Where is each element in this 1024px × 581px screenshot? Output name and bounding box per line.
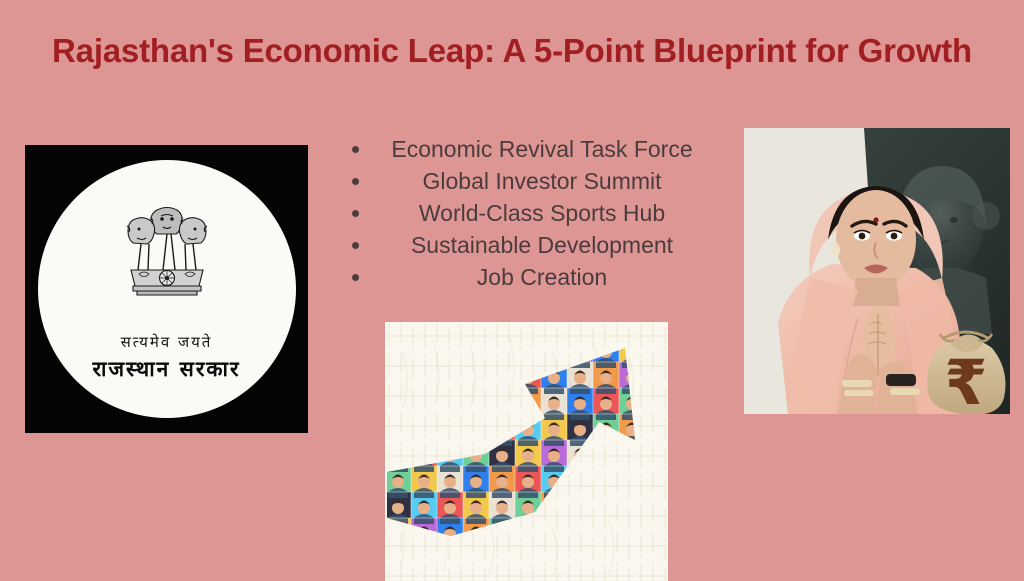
people-mosaic-growth-arrow — [385, 322, 668, 581]
presentation-slide: Rajasthan's Economic Leap: A 5-Point Blu… — [0, 0, 1024, 581]
rajasthan-government-emblem: सत्यमेव जयते राजस्थान सरकार — [25, 145, 308, 433]
list-item: Global Investor Summit — [348, 165, 716, 197]
list-item: Sustainable Development — [348, 229, 716, 261]
ashoka-lion-capital-icon — [115, 202, 219, 330]
bullet-dot-icon — [352, 242, 359, 249]
rupee-symbol-icon: ₹ — [944, 346, 987, 414]
key-points-list: Economic Revival Task Force Global Inves… — [348, 133, 716, 293]
bullet-dot-icon — [352, 274, 359, 281]
bullet-dot-icon — [352, 210, 359, 217]
minister-namaste-photo: ₹ — [744, 128, 1010, 414]
list-item: World-Class Sports Hub — [348, 197, 716, 229]
list-item-label: Sustainable Development — [348, 229, 716, 261]
list-item-label: Job Creation — [348, 261, 716, 293]
list-item: Job Creation — [348, 261, 716, 293]
bullet-dot-icon — [352, 146, 359, 153]
emblem-authority: राजस्थान सरकार — [92, 355, 240, 383]
list-item: Economic Revival Task Force — [348, 133, 716, 165]
list-item-label: Economic Revival Task Force — [348, 133, 716, 165]
bullet-dot-icon — [352, 178, 359, 185]
list-item-label: Global Investor Summit — [348, 165, 716, 197]
emblem-disc: सत्यमेव जयते राजस्थान सरकार — [38, 160, 296, 418]
emblem-motto: सत्यमेव जयते — [121, 332, 213, 352]
list-item-label: World-Class Sports Hub — [348, 197, 716, 229]
page-title: Rajasthan's Economic Leap: A 5-Point Blu… — [0, 30, 1024, 72]
